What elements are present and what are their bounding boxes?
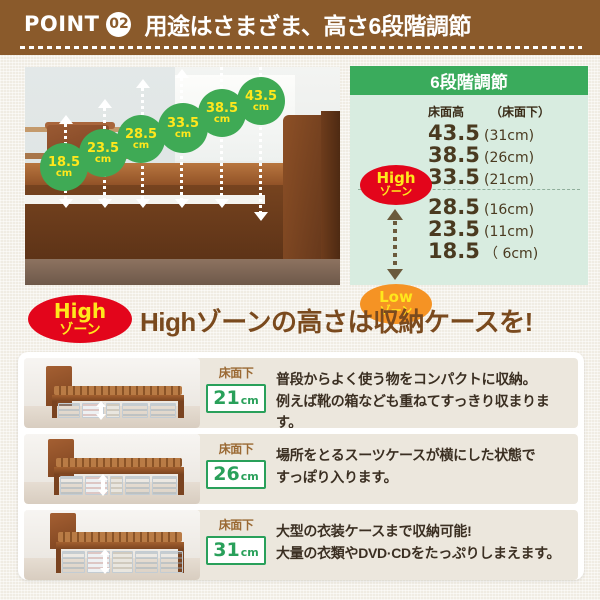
measure-value-6: 43.5 bbox=[245, 90, 277, 103]
storage-bin bbox=[125, 476, 150, 495]
measure-value-4: 33.5 bbox=[167, 117, 199, 130]
panel-column-headers: 床面高 （床面下） bbox=[350, 103, 588, 120]
measure-arrow-down-5 bbox=[215, 199, 229, 208]
banner-badge-en: High bbox=[54, 301, 106, 322]
arrow-stem bbox=[103, 555, 107, 568]
storage-bins bbox=[58, 403, 176, 418]
bed-illustration-26cm bbox=[24, 434, 200, 504]
panel-row-under: (26cm) bbox=[484, 150, 534, 166]
storage-examples-card: 床面下 21 cm 普段からよく使う物をコンパクトに収納。 例えば靴の箱なども重… bbox=[18, 352, 584, 580]
storage-bin bbox=[110, 476, 123, 495]
panel-row-height: 33.5 bbox=[428, 165, 484, 189]
height-arrow-icon bbox=[98, 474, 108, 496]
measure-unit-6: cm bbox=[253, 103, 269, 113]
panel-row: 28.5 (16cm) bbox=[428, 195, 588, 217]
panel-row-under: (31cm) bbox=[484, 128, 534, 144]
under-floor-value: 31 bbox=[213, 539, 239, 561]
banner-headline: Highゾーンの高さは収納ケースを! bbox=[140, 302, 533, 339]
arrow-stem bbox=[99, 407, 103, 414]
panel-row-height: 23.5 bbox=[428, 217, 484, 241]
storage-row-line1: 場所をとるスーツケースが横にした状態で bbox=[276, 445, 568, 467]
storage-bin bbox=[135, 551, 158, 573]
panel-row-under: （ 6cm) bbox=[484, 243, 538, 263]
storage-row: 床面下 26 cm 場所をとるスーツケースが横にした状態で すっぽり入ります。 bbox=[24, 434, 578, 504]
under-floor-value: 21 bbox=[213, 387, 239, 409]
storage-bin bbox=[160, 551, 183, 573]
point-label: POINT bbox=[24, 12, 99, 36]
infographic-page: POINT 02 用途はさまざま、高さ6段階調節 18.5 cm bbox=[0, 0, 600, 600]
under-floor-value: 26 bbox=[213, 463, 239, 485]
high-zone-badge: High ゾーン bbox=[360, 165, 432, 205]
height-arrow-icon bbox=[96, 401, 106, 420]
bed-slats bbox=[58, 532, 182, 542]
zone-arrow-down-icon bbox=[387, 269, 403, 280]
bed-illustration-31cm bbox=[24, 510, 200, 580]
arrow-down-head bbox=[100, 568, 110, 574]
measure-arrow-up-4 bbox=[175, 69, 189, 78]
under-floor-label: 床面下 bbox=[219, 516, 254, 533]
bed-slats bbox=[54, 386, 182, 395]
point-number-badge: 02 bbox=[106, 12, 131, 37]
zone-dotted-line bbox=[393, 221, 397, 269]
height-adjustment-panel: 6段階調節 床面高 （床面下） High ゾーン Low ゾーン 43.5 (3… bbox=[350, 66, 588, 285]
measure-bubble-6: 43.5 cm bbox=[237, 77, 285, 125]
bed-apron bbox=[52, 395, 184, 401]
storage-bin bbox=[112, 551, 133, 573]
storage-bin bbox=[62, 551, 85, 573]
measure-unit-1: cm bbox=[56, 169, 72, 179]
measure-arrow-down-2 bbox=[98, 199, 112, 208]
photo-floor bbox=[25, 259, 340, 285]
storage-row-meta: 床面下 31 cm bbox=[200, 510, 272, 580]
storage-row: 床面下 31 cm 大型の衣装ケースまで収納可能! 大量の衣類やDVD·CDをた… bbox=[24, 510, 578, 580]
storage-bins bbox=[62, 551, 183, 573]
measure-arrow-down-1 bbox=[59, 199, 73, 208]
under-floor-unit: cm bbox=[241, 546, 259, 559]
bed-slats bbox=[56, 458, 182, 467]
storage-row-text: 大型の衣装ケースまで収納可能! 大量の衣類やDVD·CDをたっぷりしまえます。 bbox=[272, 510, 578, 580]
measure-arrow-down-3 bbox=[136, 199, 150, 208]
column-header-floor-height: 床面高 bbox=[428, 103, 490, 120]
measure-arrow-up-1 bbox=[59, 115, 73, 124]
panel-row: 33.5 (21cm) bbox=[428, 165, 588, 187]
storage-bin bbox=[58, 403, 80, 418]
storage-bin bbox=[60, 476, 83, 495]
arrow-stem bbox=[101, 480, 105, 490]
storage-bins bbox=[60, 476, 177, 495]
bed-leg-left bbox=[52, 401, 57, 418]
measure-arrow-down-6 bbox=[254, 212, 268, 221]
storage-row-meta: 床面下 26 cm bbox=[200, 434, 272, 504]
banner-high-zone-badge: High ゾーン bbox=[28, 295, 132, 343]
panel-row-under: (11cm) bbox=[484, 224, 534, 240]
storage-row-line2: 大量の衣類やDVD·CDをたっぷりしまえます。 bbox=[276, 543, 568, 565]
height-arrow-icon bbox=[100, 549, 110, 574]
storage-row-line1: 普段からよく使う物をコンパクトに収納。 bbox=[276, 369, 568, 391]
storage-row-text: 普段からよく使う物をコンパクトに収納。 例えば靴の箱なども重ねてすっきり収まりま… bbox=[272, 358, 578, 428]
measure-value-5: 38.5 bbox=[206, 102, 238, 115]
measure-unit-3: cm bbox=[133, 141, 149, 151]
measure-unit-5: cm bbox=[214, 115, 230, 125]
banner-badge-jp: ゾーン bbox=[59, 322, 100, 337]
storage-bin bbox=[122, 403, 148, 418]
photo-bed-post-side bbox=[321, 111, 340, 281]
zone-arrow-up-icon bbox=[387, 209, 403, 220]
panel-row-height: 18.5 bbox=[428, 239, 484, 263]
panel-row-under: (21cm) bbox=[484, 172, 534, 188]
measure-value-2: 23.5 bbox=[87, 142, 119, 155]
arrow-down-head bbox=[98, 490, 108, 496]
measure-unit-4: cm bbox=[175, 130, 191, 140]
storage-row-text: 場所をとるスーツケースが横にした状態で すっぽり入ります。 bbox=[272, 434, 578, 504]
under-floor-value-box: 31 cm bbox=[206, 536, 265, 565]
high-zone-badge-en: High bbox=[376, 171, 415, 187]
under-floor-value-box: 26 cm bbox=[206, 460, 265, 489]
high-zone-banner: High ゾーン Highゾーンの高さは収納ケースを! bbox=[0, 291, 600, 347]
under-floor-label: 床面下 bbox=[219, 364, 254, 381]
panel-rows: High ゾーン Low ゾーン 43.5 (31cm) 38.5 (26cm)… bbox=[350, 121, 588, 261]
measure-value-3: 28.5 bbox=[125, 128, 157, 141]
storage-row-meta: 床面下 21 cm bbox=[200, 358, 272, 428]
high-zone-badge-jp: ゾーン bbox=[380, 187, 412, 199]
storage-bin bbox=[150, 403, 176, 418]
storage-row-line1: 大型の衣装ケースまで収納可能! bbox=[276, 521, 568, 543]
bed-leg-right bbox=[178, 474, 184, 495]
measure-unit-2: cm bbox=[95, 155, 111, 165]
under-floor-unit: cm bbox=[241, 394, 259, 407]
measure-arrow-up-3 bbox=[136, 79, 150, 88]
panel-heading: 6段階調節 bbox=[350, 66, 588, 95]
bed-leg-left bbox=[56, 549, 61, 573]
bed-illustration-21cm bbox=[24, 358, 200, 428]
column-header-under-floor: （床面下） bbox=[490, 103, 550, 120]
bed-apron bbox=[54, 467, 184, 474]
panel-row: 38.5 (26cm) bbox=[428, 143, 588, 165]
storage-row-line2: 例えば靴の箱なども重ねてすっきり収まります。 bbox=[276, 391, 568, 428]
panel-row-height: 28.5 bbox=[428, 195, 484, 219]
bed-leg-right bbox=[178, 401, 184, 418]
measure-arrow-down-4 bbox=[175, 199, 189, 208]
header-dashed-divider bbox=[20, 46, 582, 49]
storage-bin bbox=[106, 403, 120, 418]
panel-row-under: (16cm) bbox=[484, 202, 534, 218]
page-title: 用途はさまざま、高さ6段階調節 bbox=[144, 7, 470, 41]
panel-row-height: 38.5 bbox=[428, 143, 484, 167]
measure-value-1: 18.5 bbox=[48, 156, 80, 169]
panel-row: 43.5 (31cm) bbox=[428, 121, 588, 143]
arrow-down-head bbox=[96, 414, 106, 420]
bed-height-photo: 18.5 cm 23.5 cm 28.5 cm bbox=[25, 67, 340, 285]
panel-row: 18.5 （ 6cm) bbox=[428, 239, 588, 261]
bed-leg-left bbox=[54, 474, 59, 495]
point-header: POINT 02 用途はさまざま、高さ6段階調節 bbox=[0, 0, 600, 55]
storage-row: 床面下 21 cm 普段からよく使う物をコンパクトに収納。 例えば靴の箱なども重… bbox=[24, 358, 578, 428]
measure-arrow-up-2 bbox=[98, 99, 112, 108]
storage-bin bbox=[152, 476, 177, 495]
under-floor-unit: cm bbox=[241, 470, 259, 483]
bed-apron bbox=[56, 542, 184, 549]
storage-row-line2: すっぽり入ります。 bbox=[276, 467, 568, 489]
panel-row: 23.5 (11cm) bbox=[428, 217, 588, 239]
under-floor-value-box: 21 cm bbox=[206, 384, 265, 413]
under-floor-label: 床面下 bbox=[219, 440, 254, 457]
point-header-inner: POINT 02 用途はさまざま、高さ6段階調節 bbox=[24, 7, 471, 41]
panel-row-height: 43.5 bbox=[428, 121, 484, 145]
